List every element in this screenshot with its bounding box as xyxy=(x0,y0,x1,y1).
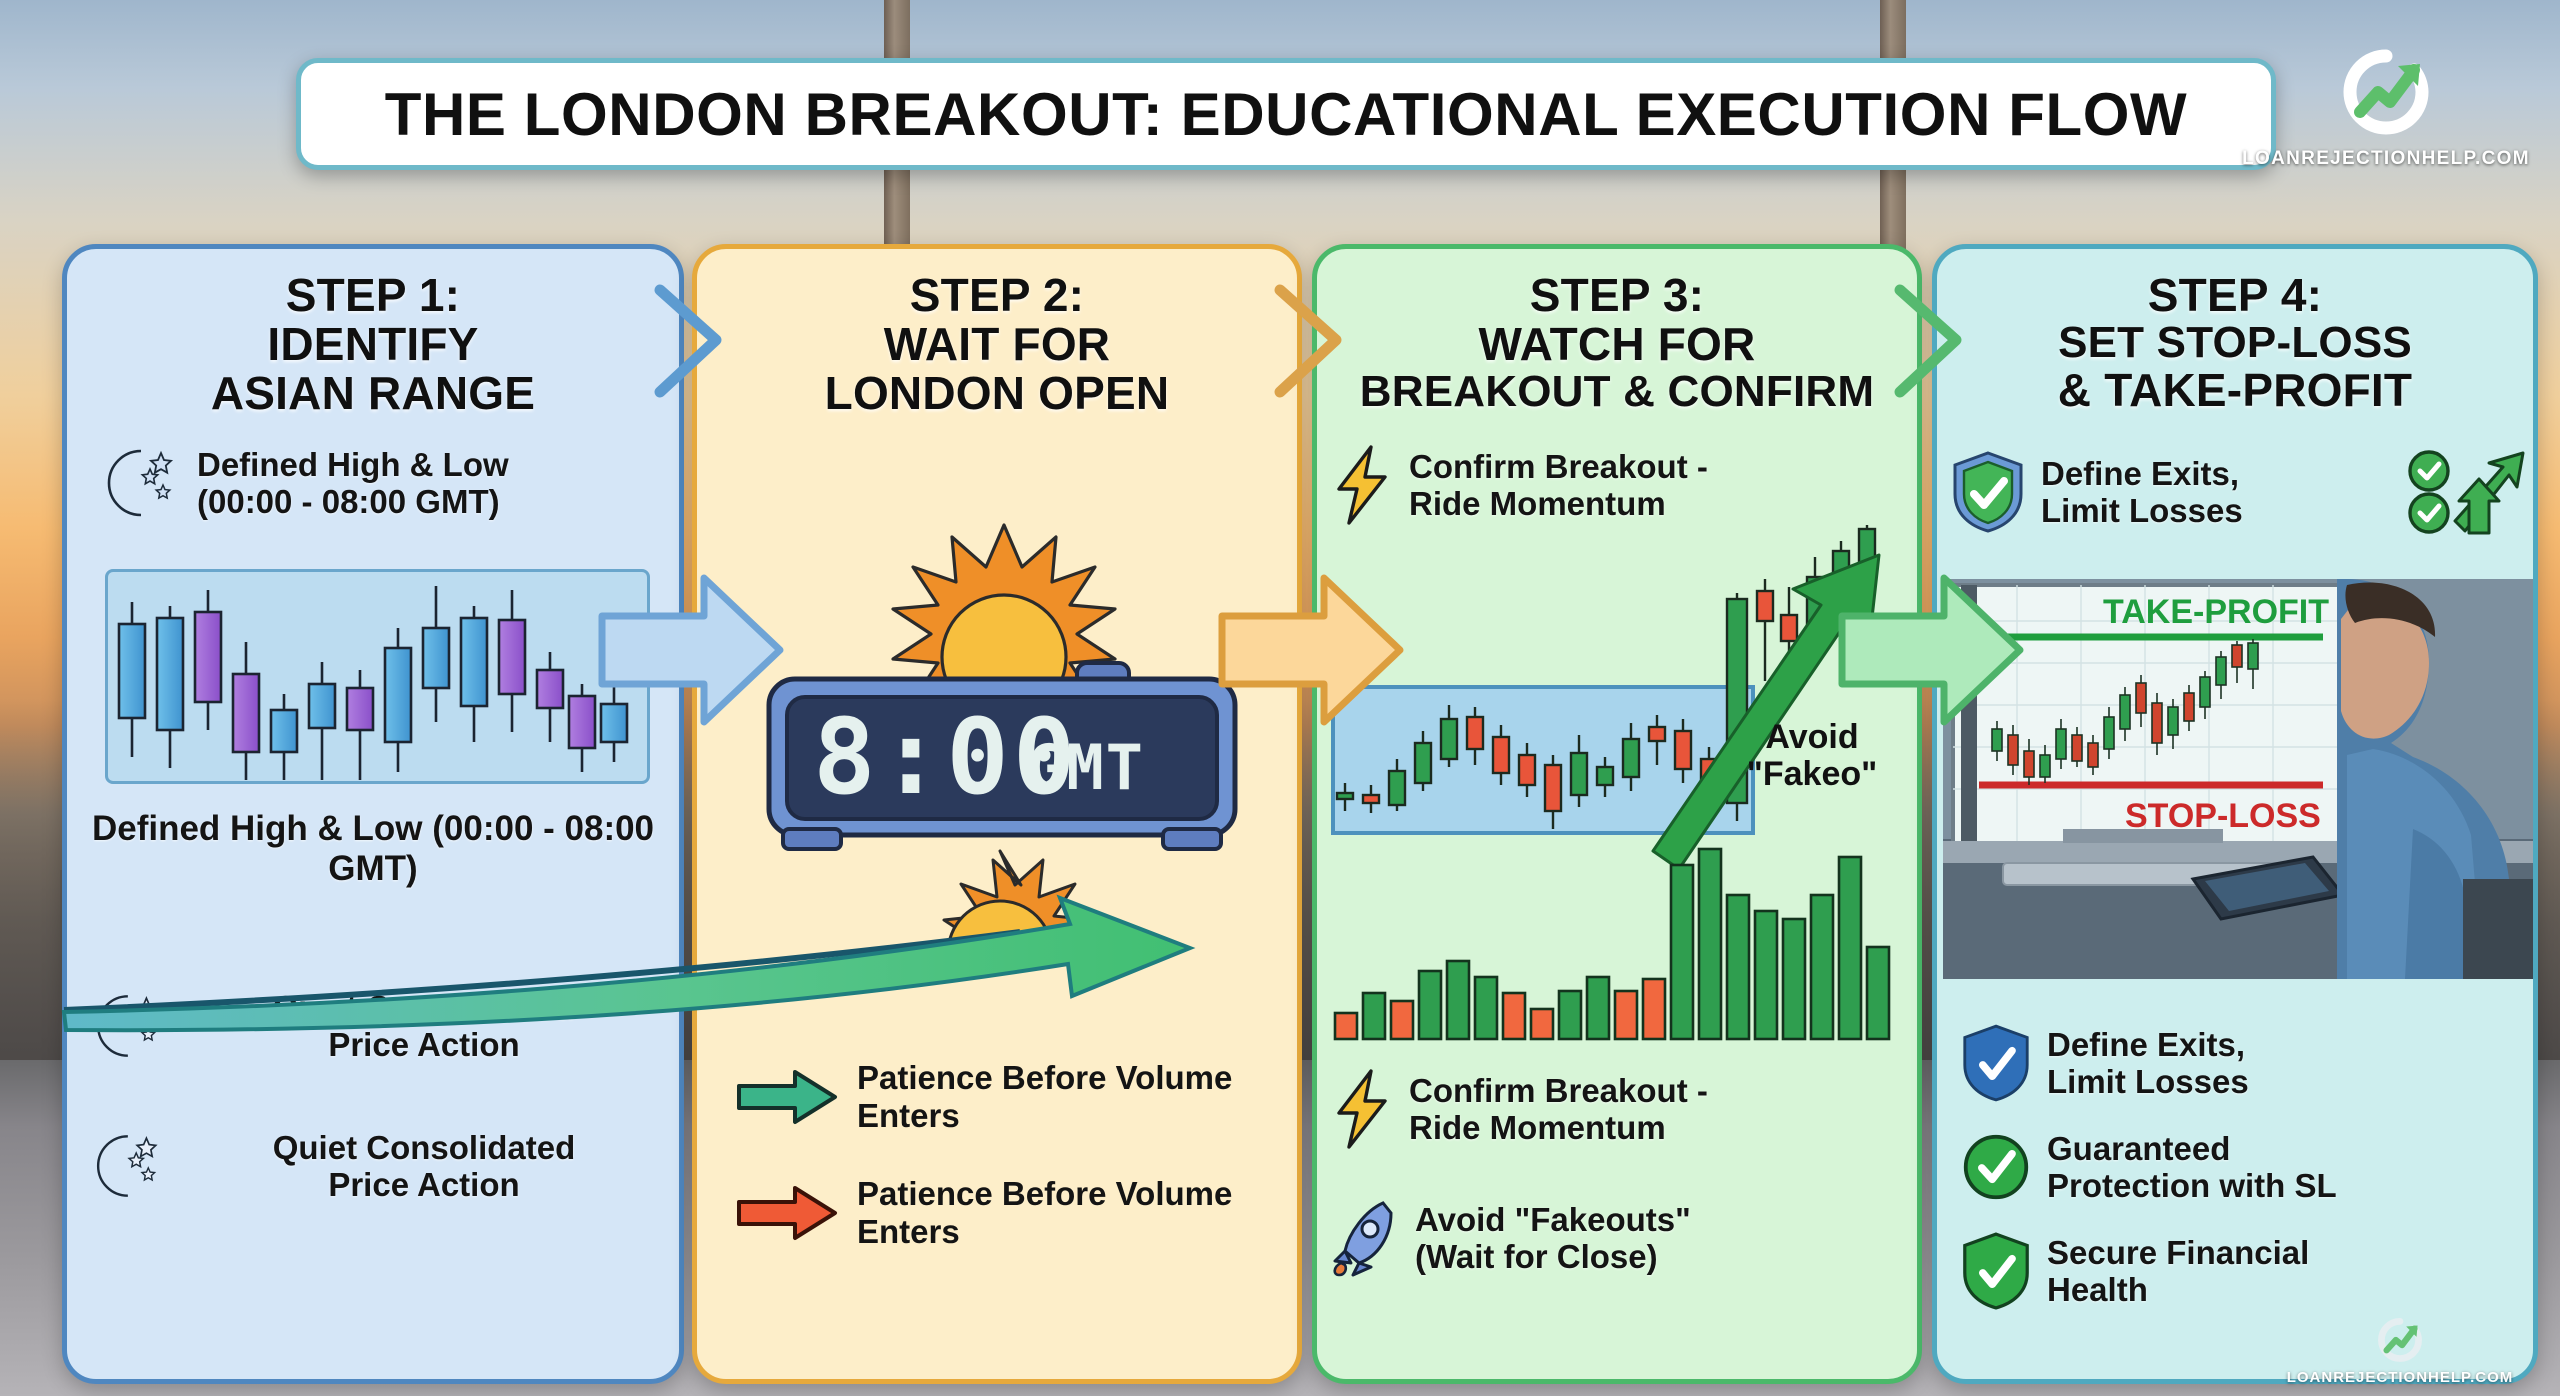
connector-arrow-step3-step4 xyxy=(1836,560,2026,740)
growth-arrow-circle-logo-icon xyxy=(2326,42,2446,146)
flow-chevron-2-to-3 xyxy=(1270,282,1390,402)
blue-shield-check-icon xyxy=(1961,1023,2031,1103)
green-shield-check-icon xyxy=(1961,1231,2031,1311)
step-3-bullet-1-text: Confirm Breakout - Ride Momentum xyxy=(1409,448,1708,523)
brand-logo-block: LOANREJECTIONHELP.COM xyxy=(2236,42,2536,170)
step-2-legend-row-1[interactable]: Patience Before Volume Enters xyxy=(735,1059,1275,1135)
asian-range-candlestick-chart xyxy=(105,569,650,784)
step-1-mid-text: Defined High & Low (00:00 - 08:00 GMT) xyxy=(67,809,679,890)
breakout-candlestick-chart xyxy=(1323,539,1919,879)
step-4-bullet-2[interactable]: Define Exits, Limit Losses xyxy=(1961,1023,2519,1103)
step-1-title-line-1: STEP 1: xyxy=(85,271,661,320)
step-4-bullet-2-text: Define Exits, Limit Losses xyxy=(2047,1026,2249,1101)
connector-arrow-step1-step2 xyxy=(596,560,786,740)
step-3-title-line-3: BREAKOUT & CONFIRM xyxy=(1335,369,1899,416)
step-1-title: STEP 1: IDENTIFY ASIAN RANGE xyxy=(85,271,661,417)
brand-name: LOANREJECTIONHELP.COM xyxy=(2236,148,2536,170)
step-1-title-line-2: IDENTIFY xyxy=(85,320,661,369)
step-4-title-line-2: SET STOP-LOSS xyxy=(1955,320,2515,367)
step-1-bullet-1[interactable]: Defined High & Low (00:00 - 08:00 GMT) xyxy=(97,445,657,521)
green-right-arrow-icon xyxy=(735,1068,839,1126)
step-3-bullet-2-text: Confirm Breakout - Ride Momentum xyxy=(1409,1072,1708,1147)
page-title-banner: THE LONDON BREAKOUT: EDUCATIONAL EXECUTI… xyxy=(296,58,2276,170)
check-rising-arrow-cluster-icon xyxy=(2407,449,2527,535)
flow-chevron-3-to-4 xyxy=(1890,282,2010,402)
rocket-icon xyxy=(1331,1199,1399,1277)
step-2-legend: Patience Before Volume Enters Patience B… xyxy=(735,1059,1275,1291)
step-3-title: STEP 3: WATCH FOR BREAKOUT & CONFIRM xyxy=(1335,271,1899,415)
step-2-legend-row-2[interactable]: Patience Before Volume Enters xyxy=(735,1175,1275,1251)
page-title: THE LONDON BREAKOUT: EDUCATIONAL EXECUTI… xyxy=(385,80,2188,149)
footer-brand-name: LOANREJECTIONHELP.COM xyxy=(2260,1369,2540,1386)
lightning-bolt-icon xyxy=(1331,1069,1393,1149)
green-circle-check-icon xyxy=(1961,1129,2031,1205)
blue-shield-check-icon xyxy=(1951,450,2025,534)
lightning-bolt-icon xyxy=(1331,445,1393,525)
step-3-bullet-3-text: Avoid "Fakeouts" (Wait for Close) xyxy=(1415,1201,1691,1276)
connector-arrow-step2-step3 xyxy=(1216,560,1406,740)
step-1-bullet-3-text: Quiet Consolidated Price Action xyxy=(181,1129,667,1204)
clock-timezone-readout: GMT xyxy=(1027,731,1145,804)
step-1-bullet-1-text: Defined High & Low (00:00 - 08:00 GMT) xyxy=(197,446,509,521)
step-2-title: STEP 2: WAIT FOR LONDON OPEN xyxy=(715,271,1279,417)
step-2-panel[interactable]: STEP 2: WAIT FOR LONDON OPEN 8:00 GMT xyxy=(692,244,1302,1384)
step-2-title-line-1: STEP 2: xyxy=(715,271,1279,320)
step-1-panel[interactable]: STEP 1: IDENTIFY ASIAN RANGE Defined Hig… xyxy=(62,244,684,1384)
step-1-title-line-3: ASIAN RANGE xyxy=(85,369,661,418)
step-4-bullet-4[interactable]: Secure Financial Health xyxy=(1961,1231,2519,1311)
step-2-title-line-2: WAIT FOR xyxy=(715,320,1279,369)
step-2-title-line-3: LONDON OPEN xyxy=(715,369,1279,418)
step-3-bullet-3[interactable]: Avoid "Fakeouts" (Wait for Close) xyxy=(1331,1199,1911,1277)
step-4-bullet-4-text: Secure Financial Health xyxy=(2047,1234,2309,1309)
volume-bar-chart xyxy=(1331,849,1911,1039)
step-4-bullet-1[interactable]: Define Exits, Limit Losses xyxy=(1951,449,2527,535)
step-1-bullet-3[interactable]: Quiet Consolidated Price Action xyxy=(87,1129,667,1204)
footer-brand-block: LOANREJECTIONHELP.COM xyxy=(2260,1313,2540,1386)
step-3-bullet-2[interactable]: Confirm Breakout - Ride Momentum xyxy=(1331,1069,1911,1149)
step-4-benefits-list: Define Exits, Limit Losses Guaranteed Pr… xyxy=(1955,1009,2525,1347)
take-profit-label: TAKE-PROFIT xyxy=(2103,593,2329,631)
volume-bars xyxy=(1331,849,1911,1039)
momentum-sweep-arrow xyxy=(60,880,1320,1060)
step-3-bullet-1[interactable]: Confirm Breakout - Ride Momentum xyxy=(1331,445,1911,525)
step-4-title-line-3: & TAKE-PROFIT xyxy=(1955,366,2515,415)
step-3-title-line-1: STEP 3: xyxy=(1335,271,1899,320)
red-right-arrow-icon xyxy=(735,1184,839,1242)
candlestick-series xyxy=(108,572,647,781)
sunrise-alarm-clock-graphic: 8:00 GMT xyxy=(759,511,1249,841)
step-3-title-line-2: WATCH FOR xyxy=(1335,320,1899,369)
step-3-panel[interactable]: STEP 3: WATCH FOR BREAKOUT & CONFIRM Con… xyxy=(1312,244,1922,1384)
growth-arrow-circle-logo-icon xyxy=(2369,1313,2431,1369)
step-4-title: STEP 4: SET STOP-LOSS & TAKE-PROFIT xyxy=(1955,271,2515,415)
crescent-moon-stars-icon xyxy=(97,445,181,521)
step-4-title-line-1: STEP 4: xyxy=(1955,271,2515,320)
step-4-panel[interactable]: STEP 4: SET STOP-LOSS & TAKE-PROFIT Defi… xyxy=(1932,244,2538,1384)
trader-monitor-photo: TAKE-PROFIT STOP-LOSS xyxy=(1943,579,2537,979)
step-4-bullet-3[interactable]: Guaranteed Protection with SL xyxy=(1961,1129,2519,1205)
step-4-bullet-1-text: Define Exits, Limit Losses xyxy=(2041,455,2391,530)
step-2-legend-row-2-text: Patience Before Volume Enters xyxy=(857,1175,1275,1251)
step-2-legend-row-1-text: Patience Before Volume Enters xyxy=(857,1059,1275,1135)
flow-chevron-1-to-2 xyxy=(650,282,770,402)
crescent-moon-stars-icon xyxy=(87,1130,165,1202)
step-4-bullet-3-text: Guaranteed Protection with SL xyxy=(2047,1130,2337,1205)
